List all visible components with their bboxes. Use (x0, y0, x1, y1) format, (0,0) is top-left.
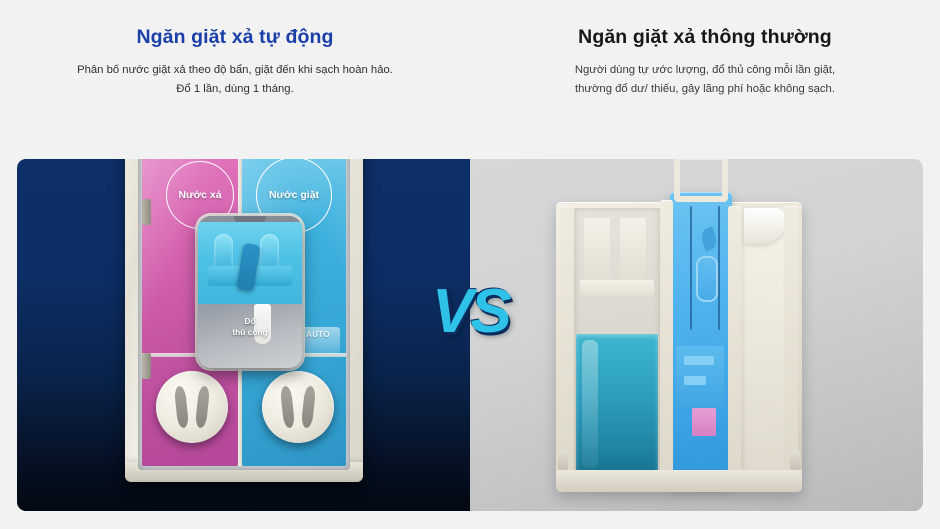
page-title-conventional: Ngăn giặt xả thông thường (578, 26, 832, 49)
page-title-auto: Ngăn giặt xả tự động (136, 26, 333, 49)
subtitle-conventional-line1: Người dùng tự ước lượng, đổ thủ công mỗi… (575, 64, 835, 76)
compartment-ledge (580, 280, 654, 296)
dispenser-hook-icon (260, 234, 279, 268)
compartment-notch (584, 218, 610, 280)
drawer-side-clip (142, 353, 151, 379)
detergent-cap (262, 371, 334, 443)
heading-column-conventional: Ngăn giặt xả thông thường Người dùng tự … (470, 0, 940, 158)
drawer-inner-cavity: AUTO Nước xả Nước giặt (138, 159, 350, 470)
subtitle-auto: Phân bố nước giặt xả theo độ bẩn, giặt đ… (77, 61, 393, 98)
subtitle-conventional-line2: thường đổ dư/ thiếu, gây lãng phí hoặc k… (575, 83, 835, 95)
heading-column-auto: Ngăn giặt xả tự động Phân bố nước giặt x… (0, 0, 470, 158)
insert-softener-residue (692, 408, 716, 436)
manual-pour-label-line1: Đổ (244, 316, 255, 326)
cap-blade (280, 386, 295, 429)
manual-pour-label-line2: thủ công (232, 327, 267, 337)
cap-blade (174, 386, 189, 429)
conventional-drawer-image (546, 159, 812, 496)
headings-row: Ngăn giặt xả tự động Phân bố nước giặt x… (0, 0, 940, 158)
manual-pour-label: Đổ thủ công (198, 316, 302, 337)
insert-oval-cutout (696, 256, 718, 302)
empty-compartment (742, 206, 788, 482)
phone-scene (198, 222, 302, 304)
tray-base (556, 470, 802, 492)
panel-auto-dispenser: AUTO Nước xả Nước giặt (17, 159, 470, 511)
cap-blade (301, 386, 316, 429)
softener-cap (156, 371, 228, 443)
subtitle-auto-line1: Phân bố nước giặt xả theo độ bẩn, giặt đ… (77, 64, 393, 76)
detergent-liquid (576, 334, 658, 478)
insert-slot (718, 206, 720, 330)
tray-wall (728, 206, 741, 482)
vs-badge: VS (432, 276, 516, 348)
tray-wall (784, 206, 798, 482)
insert-handle-frame (674, 159, 728, 202)
auto-dispenser-drawer-image: AUTO Nước xả Nước giặt (125, 159, 363, 482)
compartment-notch (620, 218, 646, 280)
cap-blade (195, 386, 210, 429)
tray-foot (790, 450, 800, 470)
subtitle-auto-line2: Đổ 1 lần, dùng 1 tháng. (176, 83, 293, 95)
subtitle-conventional: Người dùng tự ước lượng, đổ thủ công mỗi… (575, 61, 835, 98)
auto-tag-label: AUTO (296, 327, 340, 353)
drawer-side-clip (142, 199, 151, 225)
phone-manual-pour-overlay: Đổ thủ công (198, 216, 302, 368)
insert-slot (690, 206, 692, 330)
dispenser-hook-icon (214, 234, 233, 268)
insert-lower-block (676, 346, 724, 408)
tray-foot (558, 450, 568, 470)
tray-wall (560, 206, 574, 482)
panel-conventional-dispenser (470, 159, 923, 511)
tray-wall (660, 200, 673, 482)
